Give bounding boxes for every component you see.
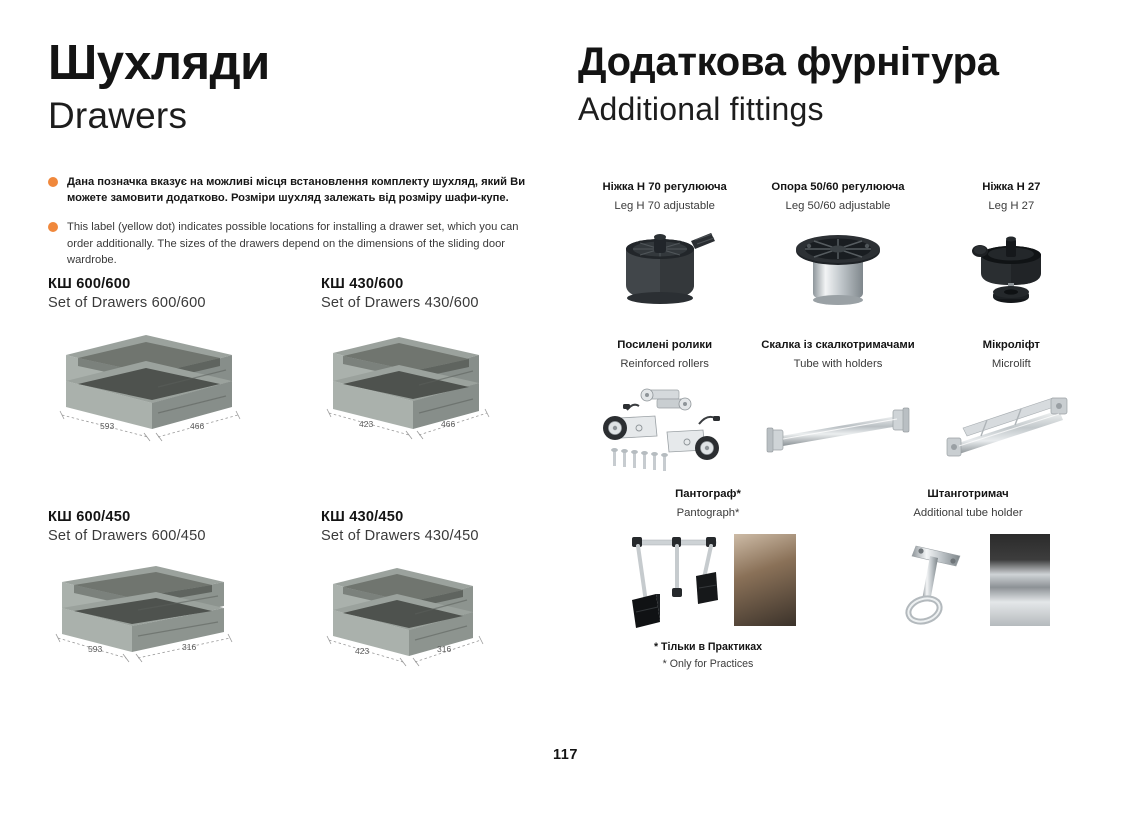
note-ua-text: Дана позначка вказує на можливі місця вс… bbox=[67, 176, 525, 204]
microlift-icon bbox=[925, 378, 1098, 474]
rollers-icon bbox=[578, 378, 751, 474]
drawer-dim-width: 423 bbox=[355, 646, 369, 656]
fitting-card-tube-holder: Штанготримач Additional tube holder bbox=[838, 487, 1098, 670]
fitting-title-en: Additional tube holder bbox=[838, 506, 1098, 521]
drawer-row: КШ 600/600 Set of Drawers 600/600 bbox=[48, 276, 560, 447]
fitting-title-en: Tube with holders bbox=[751, 357, 924, 372]
fitting-title-ua: Ніжка H 27 bbox=[925, 180, 1098, 195]
fitting-title-ua: Ніжка H 70 регулююча bbox=[578, 180, 751, 195]
drawer-title-en: Set of Drawers 600/450 bbox=[48, 528, 287, 544]
page-number: 117 bbox=[0, 747, 1131, 763]
drawer-dim-width: 423 bbox=[359, 419, 373, 429]
fitting-title-ua: Посилені ролики bbox=[578, 338, 751, 353]
drawer-title-en: Set of Drawers 430/600 bbox=[321, 295, 560, 311]
fitting-card-leg-5060: Опора 50/60 регулююча Leg 50/60 adjustab… bbox=[751, 180, 924, 315]
fitting-title-ua: Опора 50/60 регулююча bbox=[751, 180, 924, 195]
drawer-dim-depth: 316 bbox=[182, 642, 196, 652]
fitting-title-en: Leg H 70 adjustable bbox=[578, 199, 751, 214]
fitting-card-leg-h27: Ніжка H 27 Leg H 27 bbox=[925, 180, 1098, 315]
fitting-card-pantograph: Пантограф* Pantograph* bbox=[578, 487, 838, 670]
fitting-title-ua: Штанготримач bbox=[838, 487, 1098, 502]
fittings-row-2: Посилені ролики Reinforced rollers bbox=[578, 338, 1098, 473]
page-title-en: Drawers bbox=[48, 95, 548, 138]
drawer-dim-depth: 466 bbox=[441, 419, 455, 429]
drawer-card-600-600: КШ 600/600 Set of Drawers 600/600 bbox=[48, 276, 287, 447]
pantograph-icon bbox=[578, 527, 838, 633]
drawer-title-ua: КШ 430/450 bbox=[321, 509, 560, 525]
fittings-row-1: Ніжка H 70 регулююча Leg H 70 adjustable bbox=[578, 180, 1098, 315]
pantograph-footnote: * Тільки в Практиках * Only for Practice… bbox=[578, 641, 838, 670]
fitting-card-microlift: Мікроліфт Microlift bbox=[925, 338, 1098, 473]
orange-dot-icon bbox=[48, 222, 58, 232]
drawer-dim-width: 593 bbox=[88, 644, 102, 654]
fitting-title-en: Microlift bbox=[925, 357, 1098, 372]
note-en: This label (yellow dot) indicates possib… bbox=[48, 219, 540, 268]
fittings-section-header: Додаткова фурнітура Additional fittings bbox=[578, 40, 1088, 128]
fitting-card-leg-h70: Ніжка H 70 регулююча Leg H 70 adjustable bbox=[578, 180, 751, 315]
pantograph-photo bbox=[734, 534, 796, 626]
drawer-title-ua: КШ 600/600 bbox=[48, 276, 287, 292]
drawer-grid: КШ 600/600 Set of Drawers 600/600 bbox=[48, 276, 560, 680]
drawer-title-en: Set of Drawers 430/450 bbox=[321, 528, 560, 544]
drawer-title-en: Set of Drawers 600/600 bbox=[48, 295, 287, 311]
notes-block: Дана позначка вказує на можливі місця вс… bbox=[48, 174, 540, 268]
drawer-card-430-450: КШ 430/450 Set of Drawers 430/450 bbox=[321, 509, 560, 680]
leg-h70-icon bbox=[578, 219, 751, 315]
drawer-image-600-450: 593 316 bbox=[48, 558, 287, 680]
drawer-dim-depth: 316 bbox=[437, 644, 451, 654]
fitting-title-en: Leg H 27 bbox=[925, 199, 1098, 214]
orange-dot-icon bbox=[48, 177, 58, 187]
tube-icon bbox=[751, 378, 924, 474]
drawer-image-430-450: 423 316 bbox=[321, 558, 560, 680]
fitting-title-en: Reinforced rollers bbox=[578, 357, 751, 372]
fitting-title-en: Leg 50/60 adjustable bbox=[751, 199, 924, 214]
drawer-title-ua: КШ 430/600 bbox=[321, 276, 560, 292]
drawers-section-header: Шухляди Drawers Дана позначка вказує на … bbox=[48, 38, 548, 281]
fitting-title-ua: Пантограф* bbox=[578, 487, 838, 502]
catalog-page: Шухляди Drawers Дана позначка вказує на … bbox=[0, 0, 1131, 815]
drawer-dim-width: 593 bbox=[100, 421, 114, 431]
fittings-title-ua: Додаткова фурнітура bbox=[578, 40, 1088, 84]
note-ua: Дана позначка вказує на можливі місця вс… bbox=[48, 174, 540, 206]
fitting-card-tube: Скалка із скалкотримачами Tube with hold… bbox=[751, 338, 924, 473]
fitting-title-ua: Мікроліфт bbox=[925, 338, 1098, 353]
tube-holder-icon bbox=[838, 527, 1098, 633]
fittings-row-3: Пантограф* Pantograph* bbox=[578, 487, 1098, 670]
drawer-title-ua: КШ 600/450 bbox=[48, 509, 287, 525]
drawer-card-600-450: КШ 600/450 Set of Drawers 600/450 bbox=[48, 509, 287, 680]
footnote-en: * Only for Practices bbox=[578, 658, 838, 670]
fitting-title-en: Pantograph* bbox=[578, 506, 838, 521]
page-title-ua: Шухляди bbox=[48, 38, 548, 89]
leg-h27-icon bbox=[925, 219, 1098, 315]
drawer-image-430-600: 423 466 bbox=[321, 325, 560, 447]
fittings-grid: Ніжка H 70 регулююча Leg H 70 adjustable bbox=[578, 180, 1098, 474]
fitting-title-ua: Скалка із скалкотримачами bbox=[751, 338, 924, 353]
drawer-dim-depth: 466 bbox=[190, 421, 204, 431]
fitting-card-rollers: Посилені ролики Reinforced rollers bbox=[578, 338, 751, 473]
drawer-row: КШ 600/450 Set of Drawers 600/450 bbox=[48, 509, 560, 680]
fittings-title-en: Additional fittings bbox=[578, 91, 1088, 128]
note-en-text: This label (yellow dot) indicates possib… bbox=[67, 221, 518, 265]
tube-holder-photo bbox=[990, 534, 1050, 626]
leg-5060-icon bbox=[751, 219, 924, 315]
drawer-card-430-600: КШ 430/600 Set of Drawers 430/600 bbox=[321, 276, 560, 447]
drawer-image-600-600: 593 466 bbox=[48, 325, 287, 447]
footnote-ua: * Тільки в Практиках bbox=[578, 641, 838, 653]
